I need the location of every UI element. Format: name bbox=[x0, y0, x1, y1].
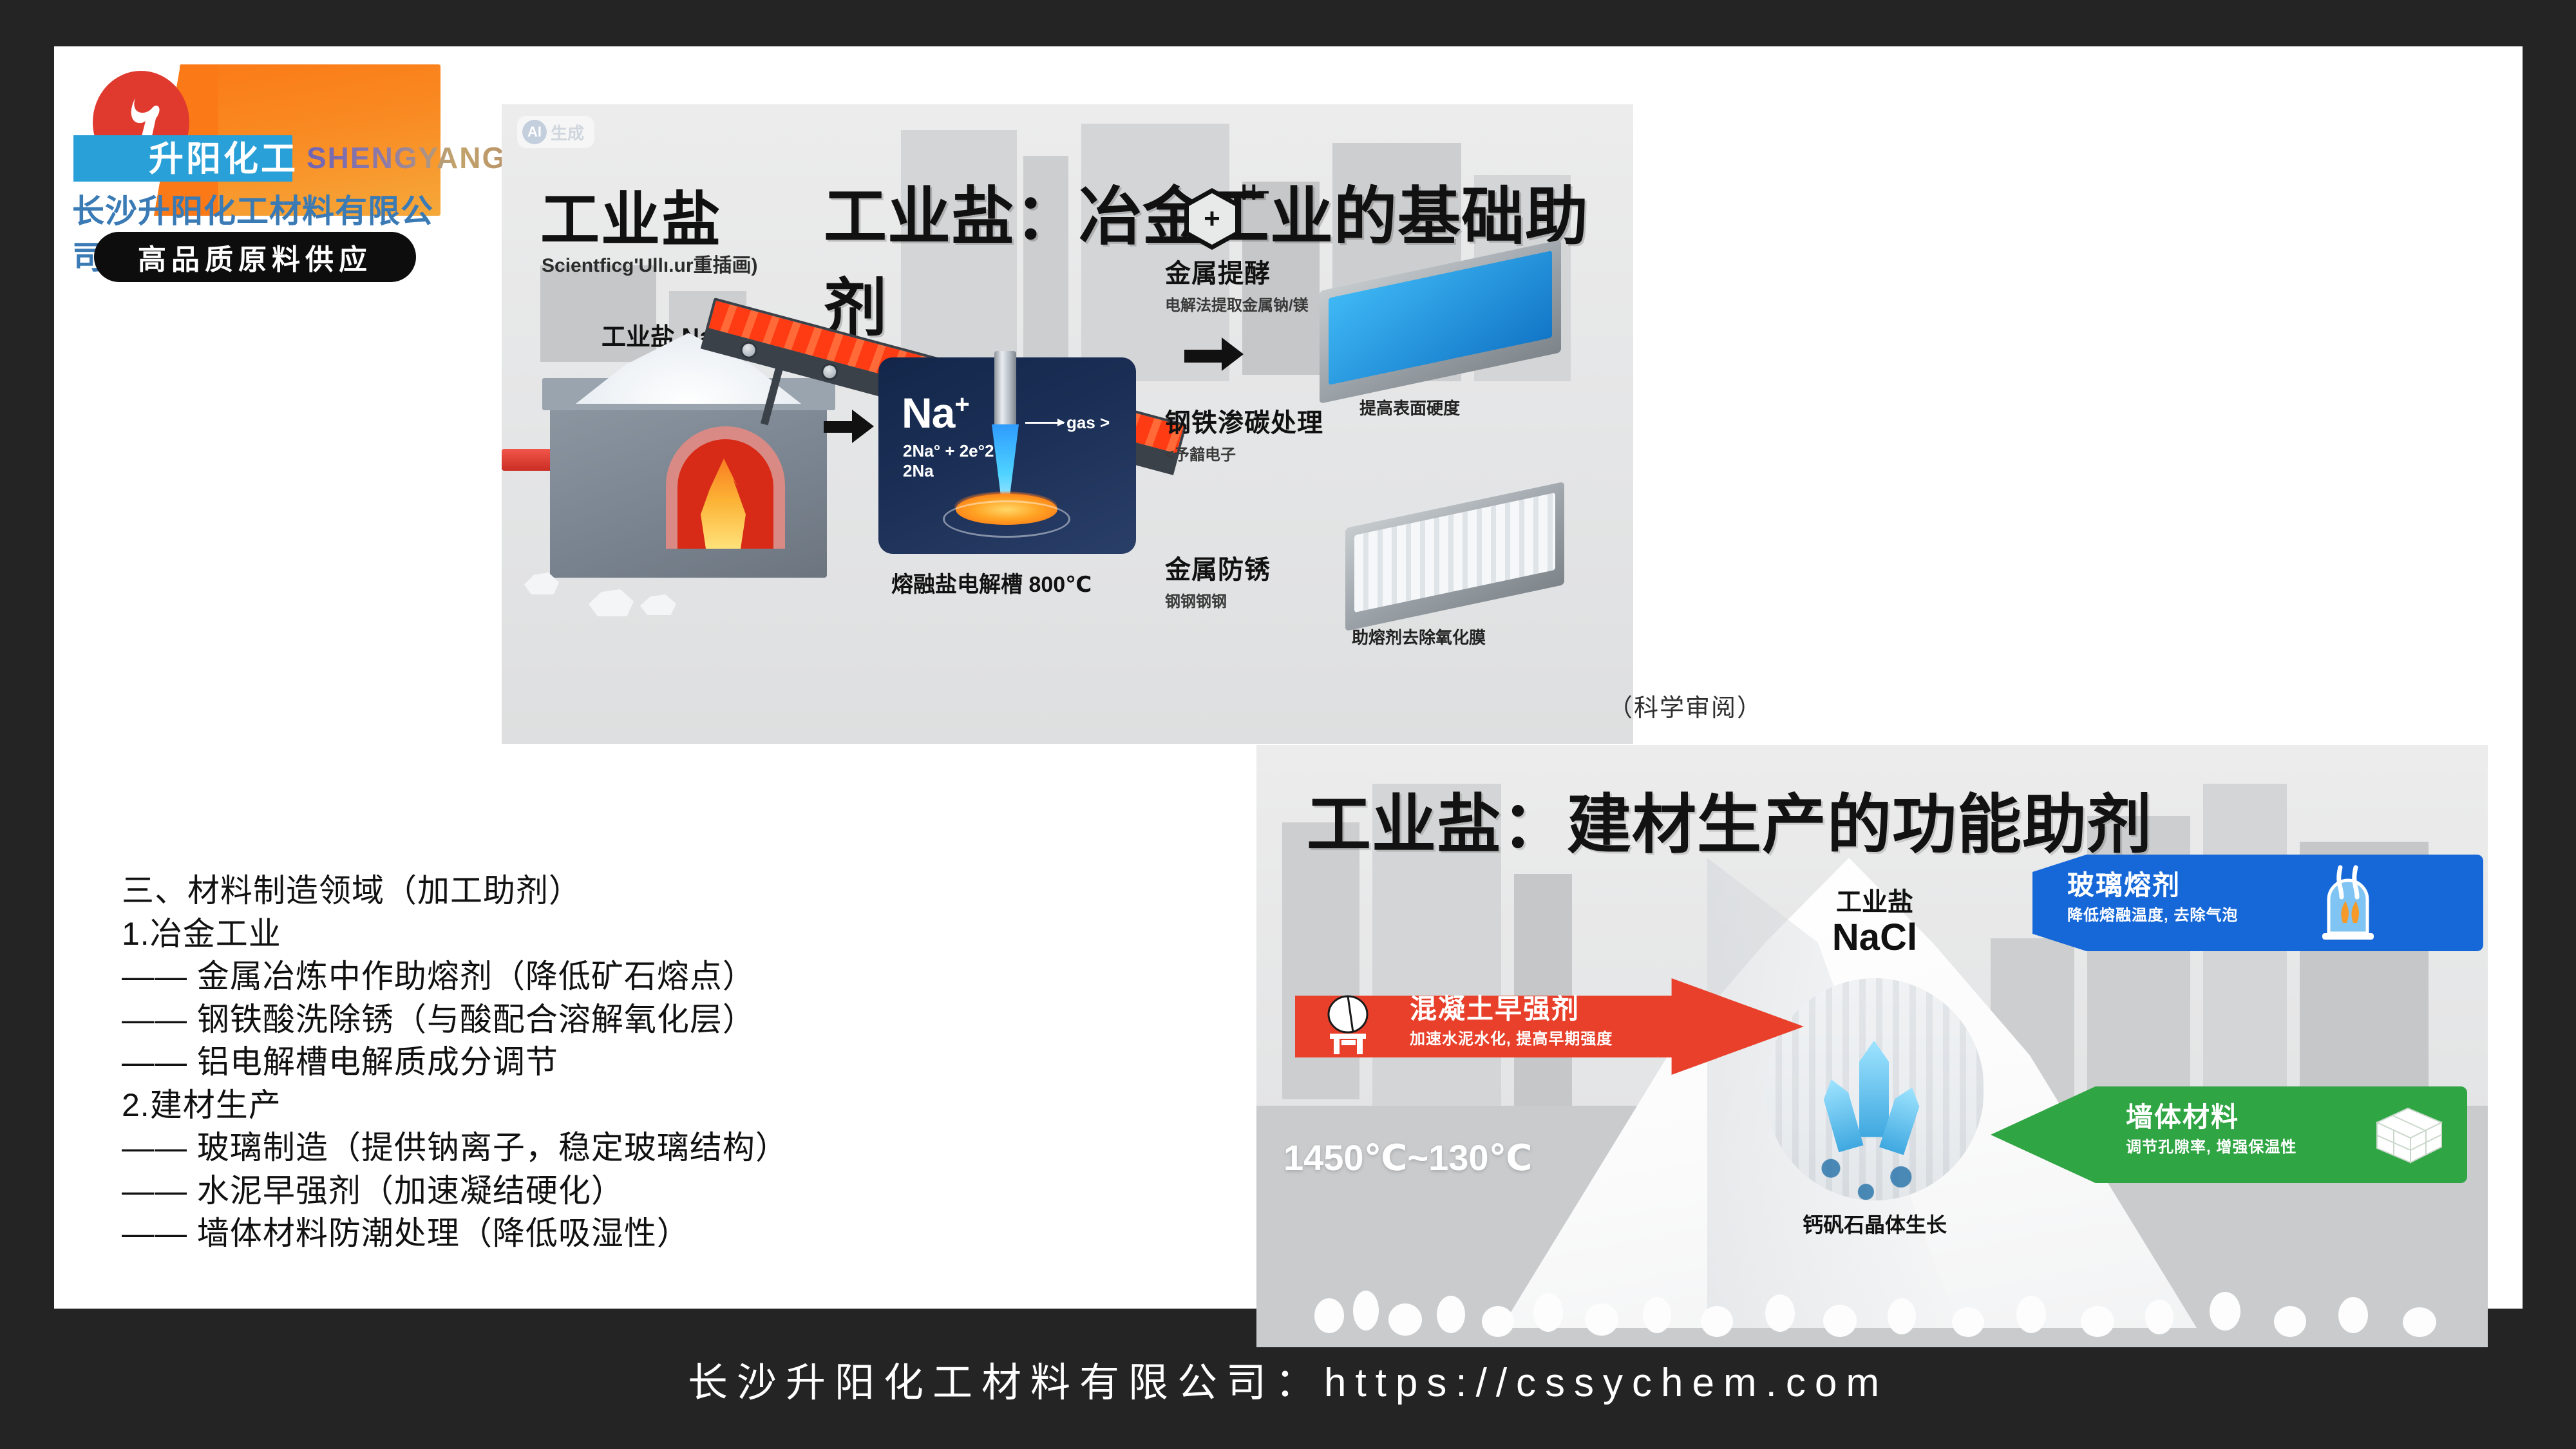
hex-minus-label: H− bbox=[1241, 180, 1269, 205]
ai-generated-badge: AI 生成 bbox=[517, 116, 594, 148]
tag-title: 玻璃熔剂 bbox=[2067, 871, 2238, 900]
copy-line: —— 玻璃制造（提供钠离子，稳定玻璃结构） bbox=[122, 1126, 1088, 1170]
copy-line: —— 水泥早强剂（加速凝结硬化） bbox=[122, 1170, 1088, 1213]
quality-badge-label: 高品质原料供应 bbox=[138, 236, 372, 278]
feature-sub: 钢钢钢钢 bbox=[1165, 589, 1271, 611]
scientific-review-note: （科学审阅） bbox=[1608, 688, 1763, 723]
quality-badge: 高品质原料供应 bbox=[94, 232, 416, 282]
copy-line: —— 金属冶炼中作助熔剂（降低矿石熔点） bbox=[122, 955, 1088, 998]
cell-ring bbox=[943, 500, 1070, 538]
electrode-probe bbox=[994, 351, 1016, 428]
footer-text: 长沙升阳化工材料有限公司：https://cssychem.com bbox=[688, 1350, 1888, 1408]
electrolysis-cell-card: Na+ 2Na° + 2e°2 > 2Na gas > bbox=[878, 357, 1136, 554]
slide-canvas: 升阳化工 SHENGYANG 长沙升阳化工材料有限公司 高品质原料供应 三、材料… bbox=[54, 46, 2523, 1309]
tag-wall-material[interactable]: 墙体材料 调节孔隙率, 增强保温性 bbox=[1991, 1086, 2467, 1183]
feature-carburizing: 钢铁渗碳处理 <予韽电子 bbox=[1165, 402, 1323, 464]
copy-line: —— 墙体材料防潮处理（降低吸湿性） bbox=[122, 1212, 1088, 1255]
tag-title: 混凝土早强剂 bbox=[1410, 995, 1613, 1023]
cell-caption: 熔融盐电解槽 800℃ bbox=[891, 567, 1092, 598]
tag-title: 墙体材料 bbox=[2126, 1103, 2297, 1132]
tag-concrete-accelerator[interactable]: 混凝土早强剂 加速水泥水化, 提高早期强度 bbox=[1295, 978, 1804, 1075]
panel1-title-left: 工业盐 bbox=[540, 172, 722, 258]
brand-block: 升阳化工 SHENGYANG 长沙升阳化工材料有限公司 高品质原料供应 bbox=[67, 59, 453, 304]
copy-line: 三、材料制造领域（加工助剂） bbox=[122, 869, 1088, 913]
sodium-ion-label: Na+ bbox=[902, 388, 969, 437]
tag-sub: 降低熔融温度, 去除气泡 bbox=[2067, 902, 2238, 925]
logo-cn-text: 升阳化工 bbox=[143, 138, 304, 180]
tray-caption-flux: 助熔剂去除氧化膜 bbox=[1352, 625, 1486, 649]
feature-sub: 电解法提取金属钠/镁 bbox=[1165, 292, 1309, 315]
ion-symbol: Na bbox=[902, 389, 954, 437]
crystal-caption: 钙矾石晶体生长 bbox=[1765, 1209, 1984, 1238]
tag-sub: 调节孔隙率, 增强保温性 bbox=[2126, 1134, 2297, 1157]
hex-plus-label: + bbox=[1204, 205, 1220, 233]
feature-rust-prevention: 金属防锈 钢钢钢钢 bbox=[1165, 549, 1271, 611]
gas-label: gas > bbox=[1066, 413, 1110, 433]
tag-sub: 加速水泥水化, 提高早期强度 bbox=[1410, 1026, 1613, 1048]
tag-glass-flux[interactable]: 玻璃熔剂 降低熔融温度, 去除气泡 bbox=[2032, 855, 2483, 951]
illustration-building-materials: 工业盐：建材生产的功能助剂 工业盐 NaCl 钙矾石晶体生长 1450℃~130… bbox=[1256, 745, 2488, 1347]
tag-green-labels: 墙体材料 调节孔隙率, 增强保温性 bbox=[2126, 1103, 2297, 1157]
gas-arrow-icon bbox=[1025, 422, 1064, 424]
feature-heading: 金属提酵 bbox=[1165, 252, 1309, 290]
footer-bar: 长沙升阳化工材料有限公司：https://cssychem.com bbox=[0, 1309, 2576, 1449]
copy-line: 2.建材生产 bbox=[122, 1084, 1088, 1127]
feature-heading: 钢铁渗碳处理 bbox=[1165, 402, 1323, 439]
ettringite-crystal-icon bbox=[1817, 1041, 1933, 1163]
copy-line: —— 铝电解槽电解质成分调节 bbox=[122, 1041, 1088, 1084]
ai-mark-icon: AI bbox=[522, 120, 547, 144]
center-salt-formula: NaCl bbox=[1772, 917, 1978, 959]
center-salt-cn: 工业盐 bbox=[1772, 888, 1978, 917]
feature-metal-extraction: 金属提酵 电解法提取金属钠/镁 bbox=[1165, 252, 1309, 315]
body-copy: 三、材料制造领域（加工助剂） 1.冶金工业 —— 金属冶炼中作助熔剂（降低矿石熔… bbox=[122, 869, 1088, 1255]
feature-heading: 金属防锈 bbox=[1165, 549, 1271, 586]
panel2-title: 工业盐：建材生产的功能助剂 bbox=[1307, 772, 2152, 866]
center-salt-label: 工业盐 NaCl bbox=[1772, 888, 1978, 959]
temperature-label: 1450℃~130℃ bbox=[1283, 1137, 1532, 1179]
cement-mixer-icon bbox=[1320, 994, 1378, 1058]
ion-charge: + bbox=[954, 390, 969, 419]
feature-sub: <予韽电子 bbox=[1165, 442, 1323, 464]
ion-hexagon-icon: + H− bbox=[1184, 188, 1240, 250]
company-logo: 升阳化工 SHENGYANG 长沙升阳化工材料有限公司 bbox=[67, 59, 440, 220]
brick-block-icon bbox=[2371, 1095, 2448, 1173]
panel1-subtitle: Scientficg'Ullı.ur重插画) bbox=[542, 249, 758, 278]
tag-red-labels: 混凝土早强剂 加速水泥水化, 提高早期强度 bbox=[1410, 995, 1613, 1048]
copy-line: —— 钢铁酸洗除锈（与酸配合溶解氧化层） bbox=[122, 998, 1088, 1041]
furnace-icon bbox=[2309, 861, 2387, 945]
tray-caption-hardness: 提高表面硬度 bbox=[1359, 395, 1460, 419]
illustration-metallurgy: AI 生成 工业盐 工业盐：冶金工业的基础助剂 Scientficg'Ullı.… bbox=[502, 104, 1633, 744]
copy-line: 1.冶金工业 bbox=[122, 913, 1088, 956]
logo-en-text: SHENGYANG bbox=[307, 140, 506, 175]
tag-blue-labels: 玻璃熔剂 降低熔融温度, 去除气泡 bbox=[2067, 871, 2238, 925]
ai-badge-label: 生成 bbox=[551, 120, 584, 144]
